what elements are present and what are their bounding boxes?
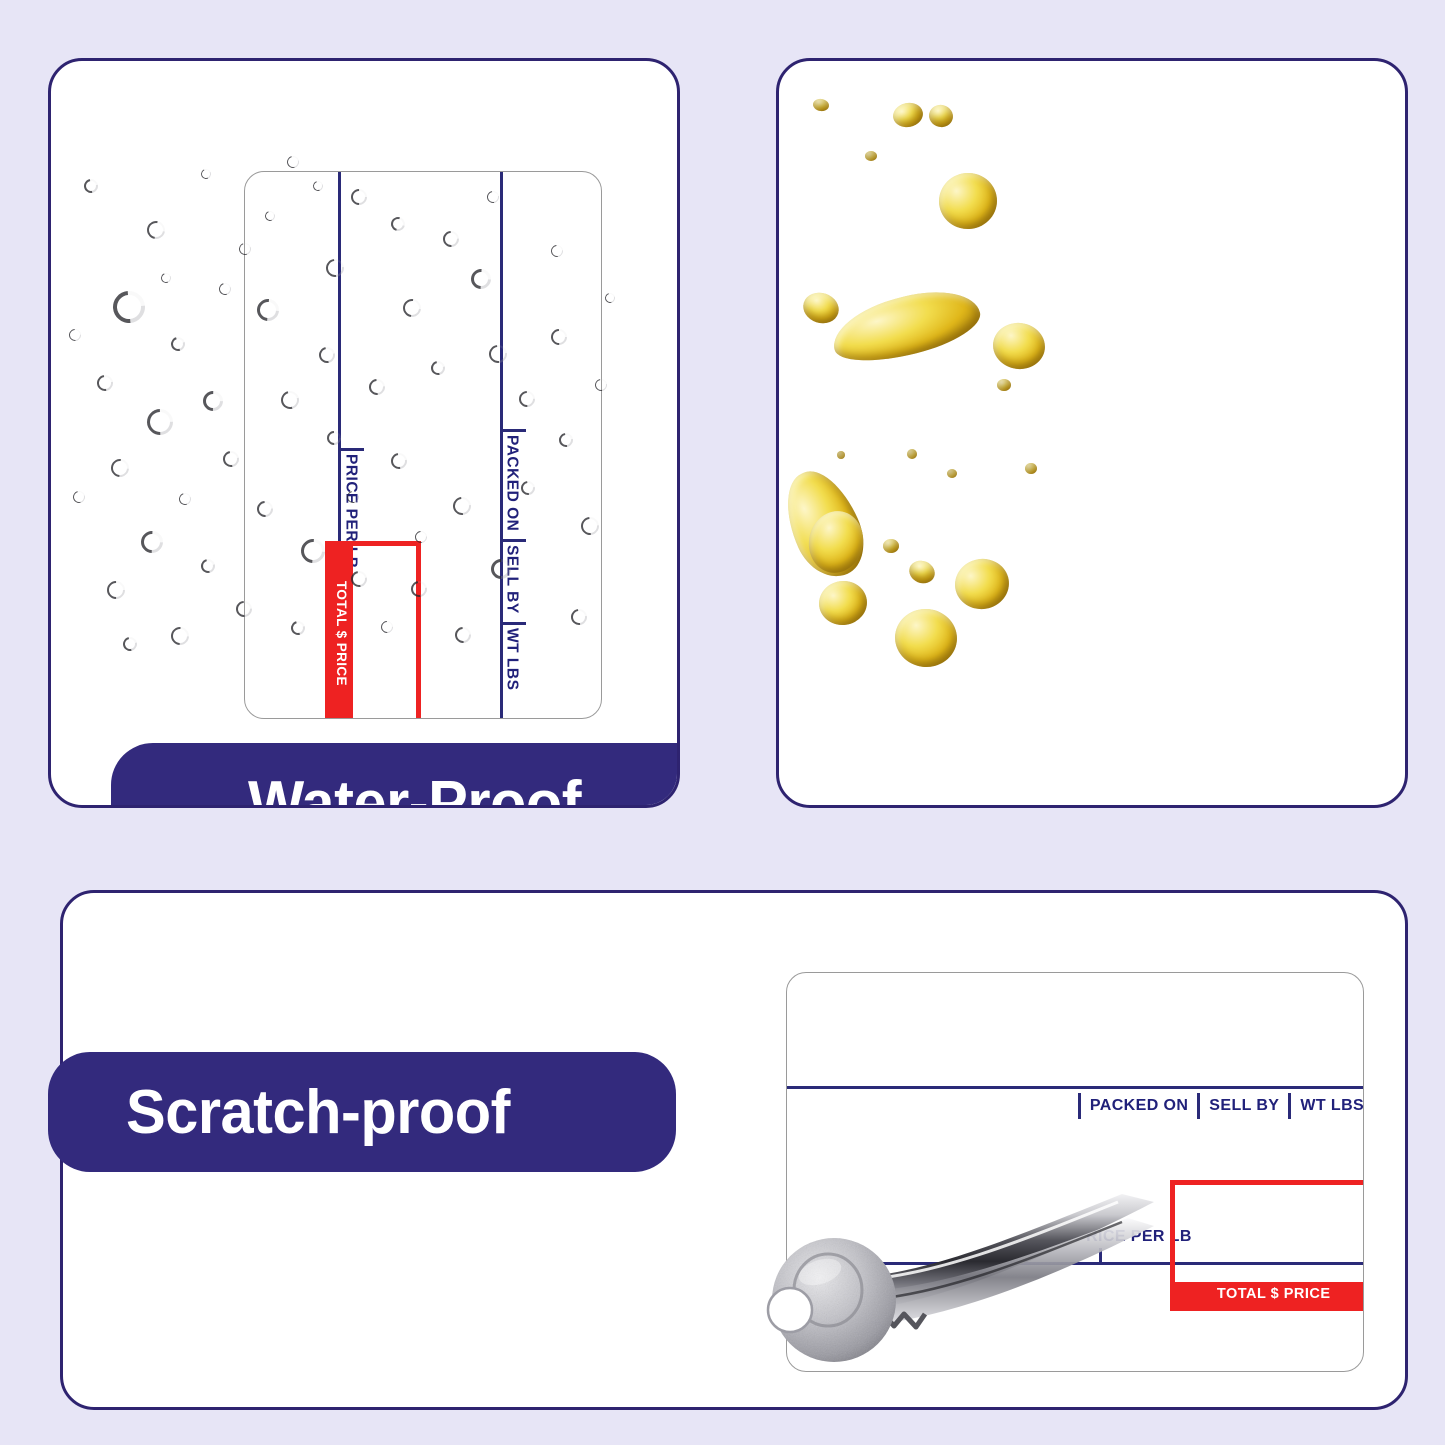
price-label-water: PRICE PER LB PACKED ON SELL BY WT LBS	[244, 171, 602, 719]
water-droplet	[159, 271, 172, 284]
water-droplet	[142, 404, 179, 441]
water-droplet	[81, 176, 100, 195]
date-columns: PACKED ON SELL BY WT LBS	[500, 429, 526, 698]
water-droplet	[220, 448, 242, 470]
oil-droplet	[891, 100, 925, 130]
oil-droplet	[865, 151, 877, 161]
oil-droplet	[951, 555, 1013, 614]
oil-droplet	[799, 288, 843, 328]
total-price-label: TOTAL $ PRICE	[1217, 1286, 1331, 1302]
water-droplet	[198, 556, 217, 575]
oil-droplet	[927, 102, 956, 129]
banner-scratch-proof: Scratch-proof	[48, 1052, 676, 1172]
sell-by-label: SELL BY	[1200, 1097, 1288, 1115]
feature-card-water-proof: PRICE PER LB PACKED ON SELL BY WT LBS	[48, 58, 680, 808]
water-droplet	[103, 577, 128, 602]
packed-on-column: PACKED ON	[1078, 1086, 1197, 1126]
column-tick	[500, 539, 526, 542]
water-droplet	[603, 291, 617, 305]
water-droplet	[285, 154, 301, 170]
oil-droplet	[883, 539, 899, 553]
total-price-box: TOTAL $ PRICE	[325, 541, 421, 719]
oil-droplet	[947, 469, 957, 478]
oil-droplet	[816, 578, 870, 628]
sell-by-label: SELL BY	[503, 545, 521, 614]
water-droplet	[136, 526, 167, 557]
packed-on-column: PACKED ON	[500, 429, 526, 539]
water-droplet	[200, 168, 213, 181]
water-droplet	[107, 455, 132, 480]
water-droplet	[167, 623, 192, 648]
total-price-band: TOTAL $ PRICE	[330, 546, 353, 719]
oil-droplet	[812, 98, 830, 113]
column-tick	[500, 622, 526, 625]
total-price-band: TOTAL $ PRICE	[1175, 1282, 1364, 1306]
feature-card-oil-proof: PRICE PER LB PACKED ON SELL BY WT LBS	[776, 58, 1408, 808]
sell-by-column: SELL BY	[1197, 1086, 1288, 1126]
water-droplet	[143, 217, 168, 242]
wt-lbs-column: WT LBS	[1288, 1086, 1364, 1126]
wt-lbs-label: WT LBS	[1291, 1097, 1364, 1115]
date-columns: PACKED ON SELL BY WT LBS	[1078, 1086, 1363, 1126]
oil-droplet	[990, 320, 1048, 373]
oil-droplet	[892, 606, 960, 670]
oil-droplet	[776, 460, 877, 587]
infographic-stage: PRICE PER LB PACKED ON SELL BY WT LBS	[0, 0, 1445, 1445]
oil-droplet	[837, 451, 845, 459]
column-tick	[1099, 1248, 1102, 1262]
oil-droplet	[826, 280, 986, 373]
water-droplet	[67, 327, 84, 344]
oil-droplet	[803, 506, 869, 578]
water-droplet	[71, 489, 87, 505]
wt-lbs-label: WT LBS	[503, 628, 521, 690]
price-label-scratch: PACKED ON SELL BY WT LBS PRICE PER LB TO…	[786, 972, 1364, 1372]
oil-droplet	[936, 170, 1000, 232]
oil-droplet	[1025, 463, 1037, 474]
total-price-label: TOTAL $ PRICE	[334, 581, 349, 686]
oil-droplet	[906, 557, 938, 587]
oil-droplet	[907, 449, 917, 459]
oil-droplet-overlay	[779, 61, 1408, 681]
banner-label-scratch-proof: Scratch-proof	[126, 1077, 510, 1148]
water-droplet	[177, 491, 193, 507]
packed-on-label: PACKED ON	[1081, 1097, 1197, 1115]
column-tick	[500, 429, 526, 432]
water-droplet	[199, 387, 227, 415]
water-droplet	[120, 634, 139, 653]
water-droplet	[217, 281, 233, 297]
water-droplet	[169, 335, 188, 354]
sell-by-column: SELL BY	[500, 539, 526, 622]
column-tick	[338, 448, 364, 451]
total-price-box: TOTAL $ PRICE	[1170, 1180, 1364, 1311]
water-droplet	[106, 284, 151, 329]
banner-water-proof: Water-Proof	[111, 743, 680, 808]
water-droplet	[94, 372, 116, 394]
wt-lbs-column: WT LBS	[500, 622, 526, 698]
oil-droplet	[997, 379, 1011, 391]
packed-on-label: PACKED ON	[503, 435, 521, 531]
banner-label-water-proof: Water-Proof	[248, 768, 581, 809]
